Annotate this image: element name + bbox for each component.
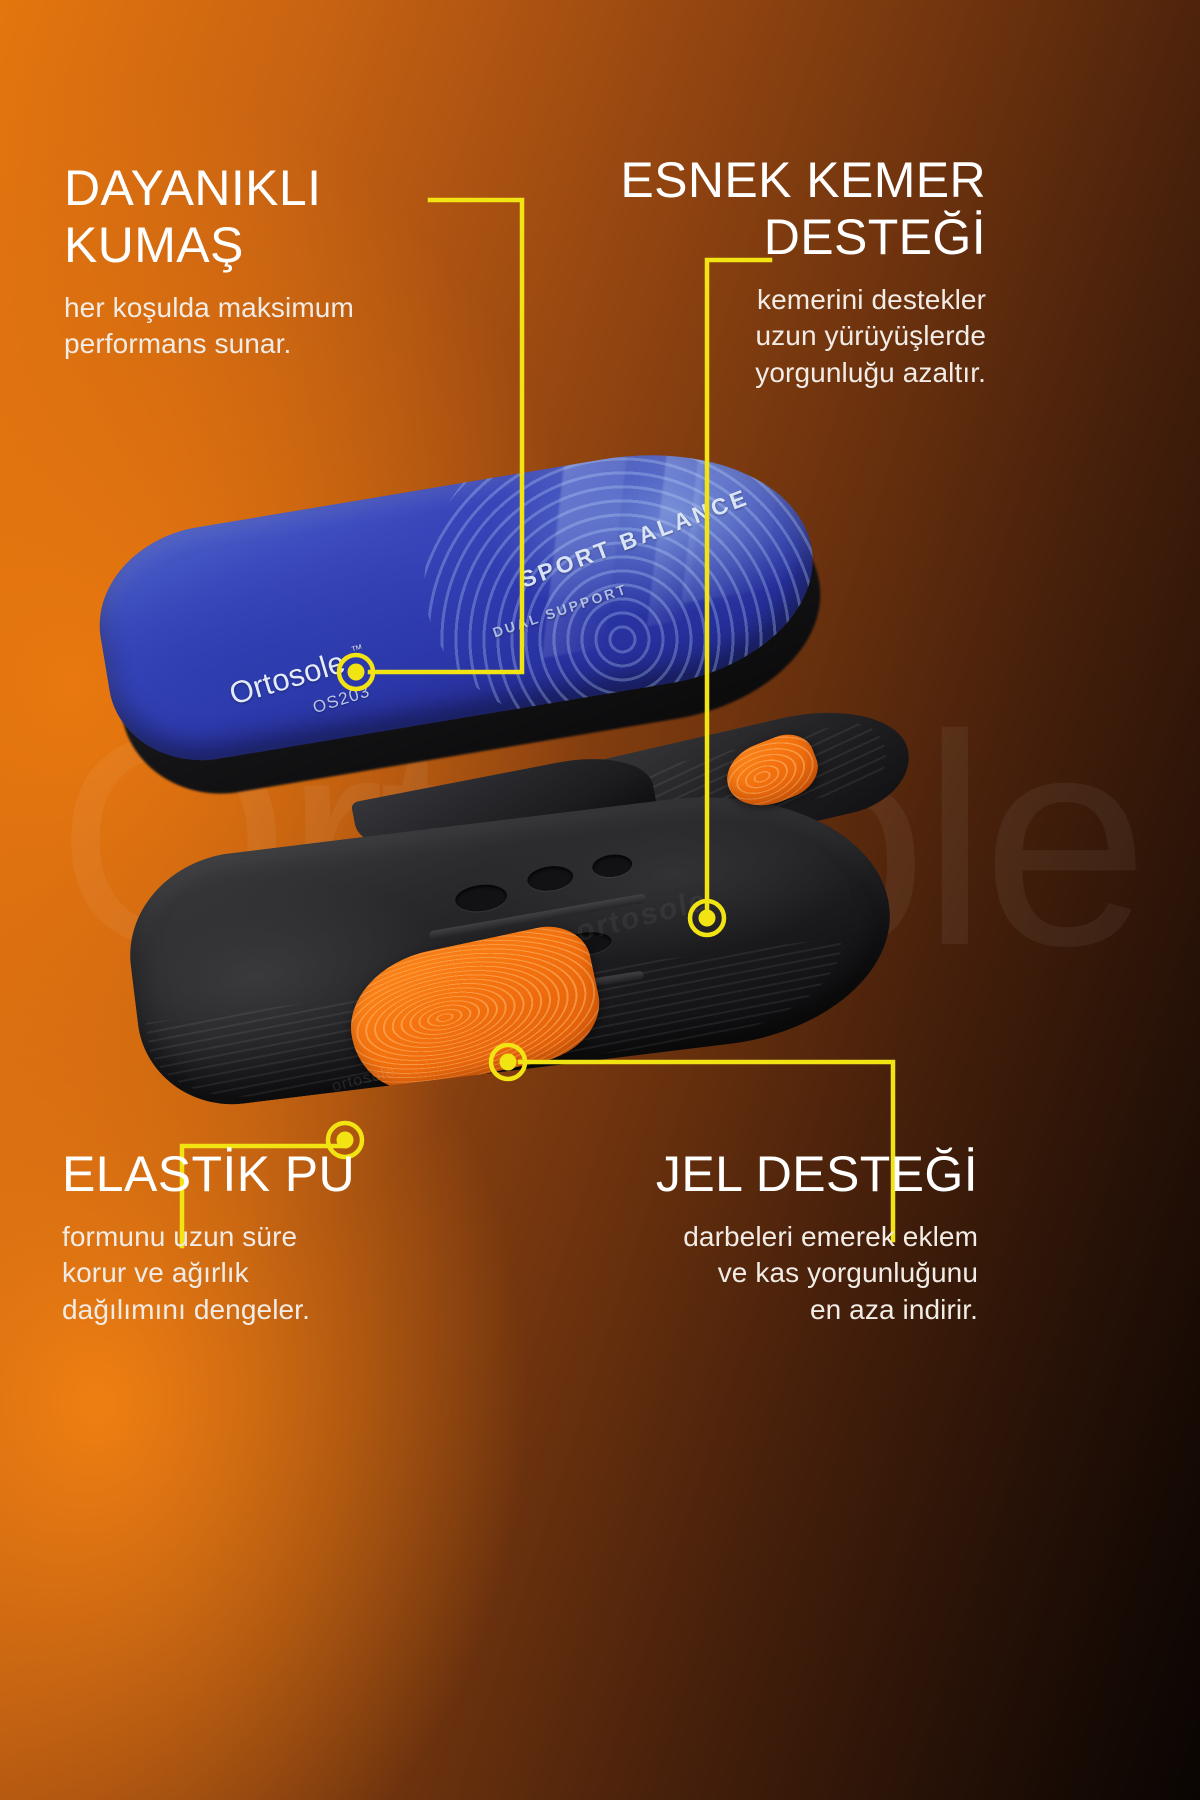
ventilation-hole (591, 852, 633, 879)
callout-block-elastic-pu: ELASTİK PU formunu uzun süre korur ve ağ… (62, 1146, 492, 1328)
callout-body-fabric-line2: performans sunar. (64, 328, 291, 359)
trademark-symbol: ™ (349, 641, 364, 658)
callout-title-arch: ESNEK KEMER DESTEĞİ (566, 152, 986, 266)
callout-body-arch: kemerini destekler uzun yürüyüşlerde yor… (566, 282, 986, 391)
callout-body-arch-line1: kemerini destekler (757, 284, 986, 315)
callout-body-pu-line3: dağılımını dengeler. (62, 1294, 310, 1325)
callout-block-gel: JEL DESTEĞİ darbeleri emerek eklem ve ka… (558, 1146, 978, 1328)
callout-title-fabric-line1: DAYANIKLI (64, 160, 321, 216)
callout-body-fabric-line1: her koşulda maksimum (64, 292, 354, 323)
callout-body-pu-line2: korur ve ağırlık (62, 1257, 249, 1288)
product-infographic-poster: Ortosole SPORT BALANCE DUAL SUPPORT Orto… (0, 0, 1200, 1800)
callout-title-fabric: DAYANIKLI KUMAŞ (64, 160, 494, 274)
callout-title-fabric-line2: KUMAŞ (64, 217, 244, 273)
callout-body-fabric: her koşulda maksimum performans sunar. (64, 290, 494, 363)
callout-block-fabric: DAYANIKLI KUMAŞ her koşulda maksimum per… (64, 160, 494, 363)
callout-body-arch-line3: yorgunluğu azaltır. (755, 357, 986, 388)
callout-title-elastic-pu: ELASTİK PU (62, 1146, 492, 1203)
callout-title-arch-line1: ESNEK KEMER (620, 152, 986, 208)
callout-body-arch-line2: uzun yürüyüşlerde (756, 320, 987, 351)
callout-body-gel-line2: ve kas yorgunluğunu (718, 1257, 978, 1288)
callout-body-gel-line1: darbeleri emerek eklem (683, 1221, 978, 1252)
ventilation-hole (526, 864, 575, 893)
callout-body-elastic-pu: formunu uzun süre korur ve ağırlık dağıl… (62, 1219, 492, 1328)
ventilation-hole (454, 882, 509, 914)
callout-block-arch: ESNEK KEMER DESTEĞİ kemerini destekler u… (566, 152, 986, 391)
callout-body-pu-line1: formunu uzun süre (62, 1221, 297, 1252)
callout-title-gel: JEL DESTEĞİ (558, 1146, 978, 1203)
callout-body-gel-line3: en aza indirir. (810, 1294, 978, 1325)
callout-title-arch-line2: DESTEĞİ (764, 209, 986, 265)
callout-body-gel: darbeleri emerek eklem ve kas yorgunluğu… (558, 1219, 978, 1328)
black-insole-body: ortosole ortosole (119, 774, 904, 1115)
